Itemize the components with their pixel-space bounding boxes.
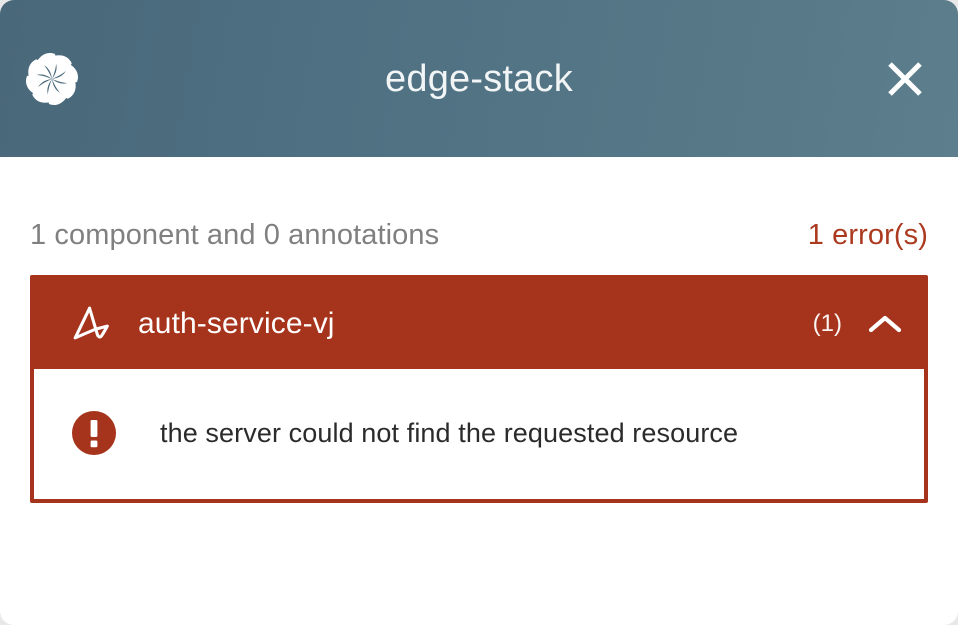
page-title: edge-stack bbox=[0, 60, 958, 98]
dialog-content: 1 component and 0 annotations 1 error(s)… bbox=[0, 157, 958, 503]
ambassador-a-icon bbox=[68, 301, 114, 347]
component-error-panel: auth-service-vj (1) bbox=[30, 275, 928, 503]
component-name-label: auth-service-vj bbox=[138, 307, 335, 341]
issue-count-badge: (1) bbox=[813, 310, 842, 338]
summary-label: 1 component and 0 annotations bbox=[30, 219, 439, 252]
collapse-toggle-button[interactable] bbox=[868, 309, 902, 339]
error-exclamation-icon bbox=[70, 409, 118, 457]
error-message-text: the server could not find the requested … bbox=[160, 418, 738, 449]
component-panel-header[interactable]: auth-service-vj (1) bbox=[34, 279, 924, 369]
pinwheel-logo-icon bbox=[26, 53, 78, 105]
panel-header-actions: (1) bbox=[813, 309, 902, 339]
error-message-row: the server could not find the requested … bbox=[34, 409, 924, 457]
summary-row: 1 component and 0 annotations 1 error(s) bbox=[30, 157, 928, 252]
component-panel-body: the server could not find the requested … bbox=[34, 369, 924, 499]
close-icon bbox=[883, 57, 927, 101]
app-window: edge-stack 1 component and 0 annotations… bbox=[0, 0, 958, 625]
close-button[interactable] bbox=[878, 52, 932, 106]
error-count-label: 1 error(s) bbox=[808, 219, 928, 252]
chevron-up-icon bbox=[868, 313, 902, 335]
title-bar: edge-stack bbox=[0, 0, 958, 157]
